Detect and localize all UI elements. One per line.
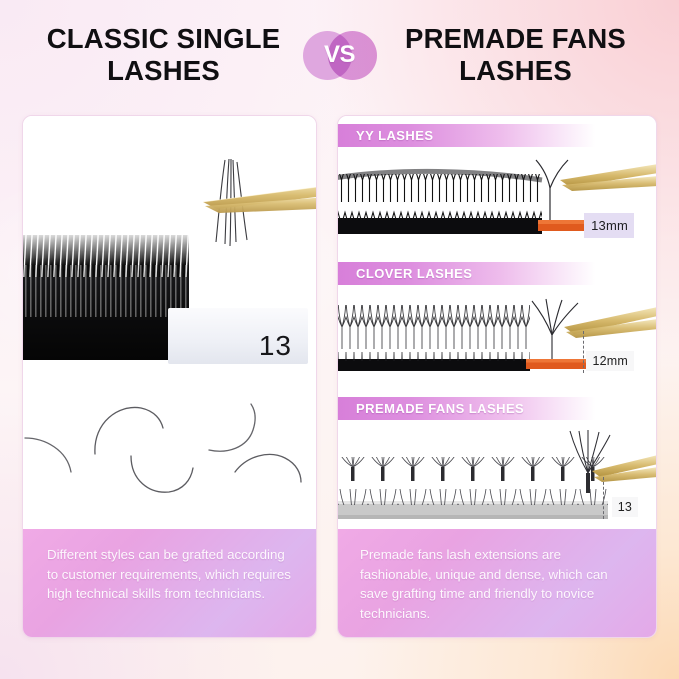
right-panel-title: PREMADE FANS LASHES bbox=[377, 23, 649, 87]
classic-caption-text: Different styles can be grafted accordin… bbox=[47, 545, 296, 604]
clover-lashes-section: CLOVER LASHES bbox=[338, 254, 656, 389]
clover-lashes-label: CLOVER LASHES bbox=[338, 262, 618, 285]
ruler-value-label: 13 bbox=[259, 330, 292, 362]
black-lash-strip-image bbox=[23, 265, 189, 360]
premade-fan-strip-image bbox=[338, 427, 657, 527]
clover-measure-line bbox=[583, 331, 584, 373]
left-panel-title: CLASSIC SINGLE LASHES bbox=[31, 23, 303, 87]
classic-caption-block: Different styles can be grafted accordin… bbox=[23, 529, 316, 637]
clover-lash-strip-image bbox=[338, 293, 657, 385]
yy-measure-tag: 13mm bbox=[584, 213, 634, 238]
classic-single-lashes-card: 13 bbox=[22, 115, 317, 638]
clover-measure-tag: 12mm bbox=[586, 351, 634, 371]
premade-measure-tag: 13 bbox=[612, 497, 638, 517]
vs-label: VS bbox=[324, 41, 355, 69]
premade-fans-section: PREMADE FANS LASHES bbox=[338, 389, 656, 531]
single-lash-curves-photo bbox=[23, 376, 316, 531]
vs-badge: VS bbox=[303, 28, 377, 82]
premade-fans-lashes-card: YY LASHES bbox=[337, 115, 657, 638]
yy-lashes-label: YY LASHES bbox=[338, 124, 618, 147]
premade-caption-text: Premade fans lash extensions are fashion… bbox=[360, 545, 636, 624]
premade-measure-line bbox=[603, 477, 604, 519]
premade-fans-photo bbox=[338, 427, 656, 527]
yy-lashes-section: YY LASHES bbox=[338, 116, 656, 254]
clover-lashes-photo bbox=[338, 293, 656, 385]
premade-caption-block: Premade fans lash extensions are fashion… bbox=[338, 529, 656, 637]
tweezers-icon bbox=[173, 156, 316, 276]
lash-curve-illustration bbox=[23, 376, 316, 531]
classic-lash-strip-photo: 13 bbox=[23, 116, 316, 376]
measurement-tray: 13 bbox=[168, 308, 308, 364]
premade-fans-label: PREMADE FANS LASHES bbox=[338, 397, 618, 420]
header: CLASSIC SINGLE LASHES VS PREMADE FANS LA… bbox=[0, 0, 679, 110]
